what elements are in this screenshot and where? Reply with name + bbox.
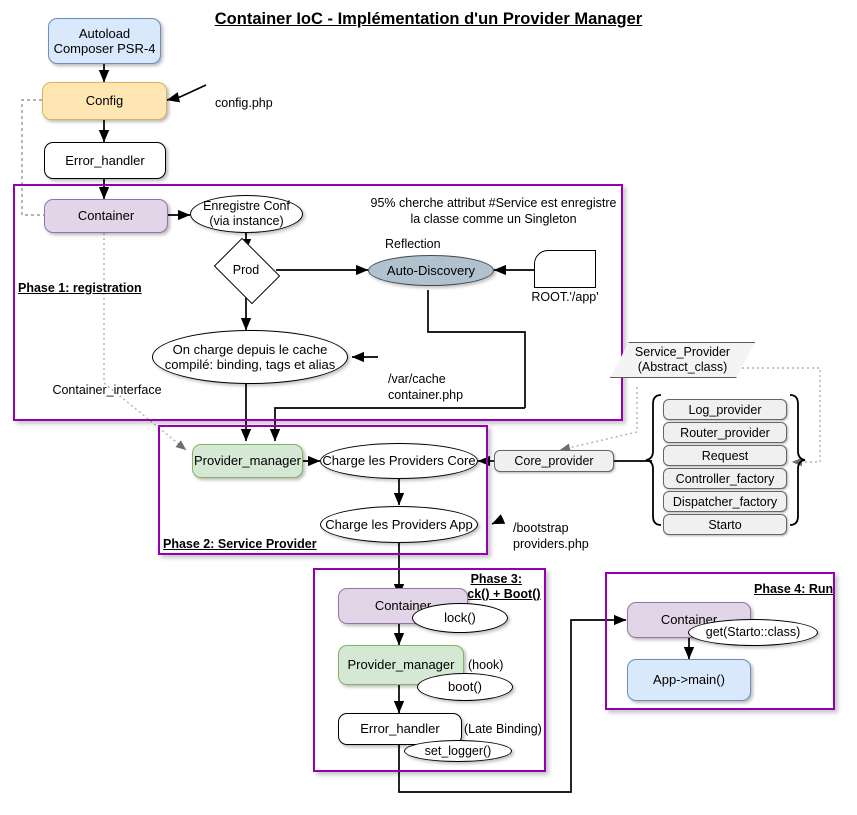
bootstrap-providers-note[interactable]: /bootstrap providers.php <box>503 482 618 532</box>
root-app-label: ROOT.'/app' <box>524 290 606 306</box>
reflection-label: Reflection <box>385 237 465 253</box>
auto-discovery-oval[interactable]: Auto-Discovery <box>368 255 494 286</box>
cache-load-oval[interactable]: On charge depuis le cache compilé: bindi… <box>152 330 348 384</box>
cache-file-note-label: /var/cache container.php <box>388 372 463 402</box>
config-php-note[interactable]: config.php <box>205 57 287 105</box>
provider-list-item[interactable]: Starto <box>663 514 787 535</box>
root-app-box[interactable] <box>534 250 596 288</box>
provider-list-item[interactable]: Dispatcher_factory <box>663 491 787 512</box>
phase1-label: Phase 1: registration <box>18 281 142 296</box>
provider-list-item[interactable]: Request <box>663 445 787 466</box>
core-provider-node[interactable]: Core_provider <box>494 450 614 472</box>
singleton-annotation: 95% cherche attribut #Service est enregi… <box>366 196 621 227</box>
set-logger-call-oval[interactable]: set_logger() <box>404 740 512 762</box>
phase4-label: Phase 4: Run <box>754 582 833 597</box>
diagram-canvas: Container IoC - Implémentation d'un Prov… <box>0 0 857 815</box>
late-binding-label: (Late Binding) <box>464 722 554 738</box>
charge-app-oval[interactable]: Charge les Providers App <box>320 506 478 543</box>
provider-list-item-label: Dispatcher_factory <box>673 495 777 509</box>
container-interface-label: Container_interface <box>52 383 162 399</box>
phase2-provider-manager-node[interactable]: Provider_manager <box>192 444 303 478</box>
provider-list-item-label: Log_provider <box>689 403 762 417</box>
cache-file-note[interactable]: /var/cache container.php <box>378 333 481 381</box>
lock-call-oval[interactable]: lock() <box>412 603 508 633</box>
charge-core-oval[interactable]: Charge les Providers Core <box>320 443 478 479</box>
phase1-container-node[interactable]: Container <box>44 199 168 233</box>
bootstrap-providers-note-label: /bootstrap providers.php <box>513 521 589 551</box>
prod-decision-label: Prod <box>220 251 272 289</box>
config-php-note-label: config.php <box>215 96 273 110</box>
get-starto-call-oval[interactable]: get(Starto::class) <box>688 619 818 646</box>
provider-list-item[interactable]: Controller_factory <box>663 468 787 489</box>
service-provider-abstract-node[interactable]: Service_Provider (Abstract_class) <box>610 342 755 378</box>
provider-list: Log_providerRouter_providerRequestContro… <box>663 399 787 537</box>
provider-list-item-label: Router_provider <box>680 426 770 440</box>
phase2-label: Phase 2: Service Provider <box>163 537 317 552</box>
hook-label: (hook) <box>468 658 528 674</box>
config-node[interactable]: Config <box>42 82 167 120</box>
provider-list-item-label: Controller_factory <box>676 472 775 486</box>
autoload-node[interactable]: Autoload Composer PSR-4 <box>48 18 161 64</box>
provider-list-item[interactable]: Log_provider <box>663 399 787 420</box>
provider-list-item[interactable]: Router_provider <box>663 422 787 443</box>
app-main-node[interactable]: App->main() <box>627 659 751 701</box>
prod-decision[interactable]: Prod <box>220 251 272 289</box>
provider-list-item-label: Request <box>702 449 749 463</box>
boot-call-oval[interactable]: boot() <box>417 673 513 701</box>
provider-list-item-label: Starto <box>708 518 741 532</box>
register-conf-oval[interactable]: Enregistre Conf (via instance) <box>190 195 303 233</box>
error-handler-node[interactable]: Error_handler <box>44 142 166 179</box>
